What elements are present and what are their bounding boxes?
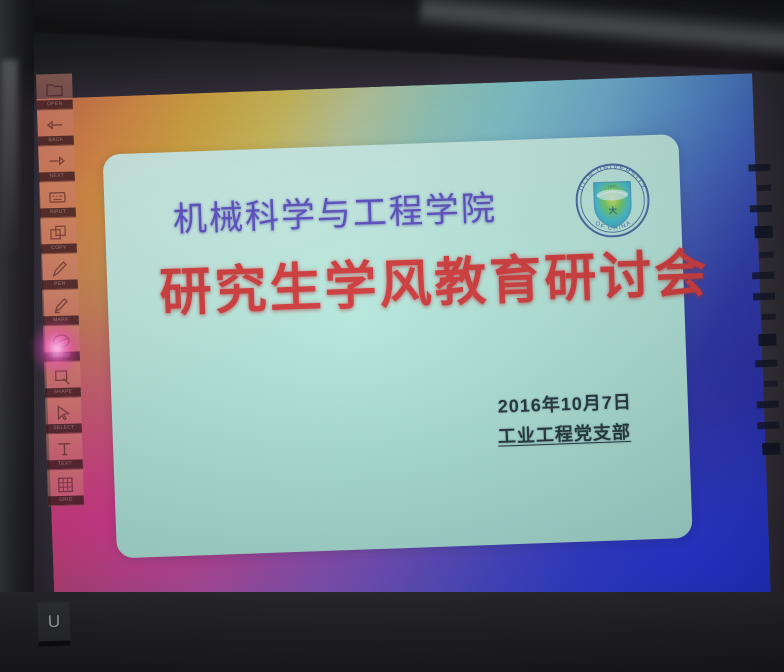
tool-button-label: SELECT (46, 423, 82, 433)
tool-button-label: COPY (41, 243, 77, 253)
edge-tick (757, 185, 771, 191)
edge-tick (753, 293, 775, 301)
tool-button-marker[interactable]: MARK (42, 289, 79, 326)
tool-button-label: GRID (48, 495, 84, 505)
edge-tick (754, 226, 772, 239)
edge-tick (750, 205, 772, 213)
tool-button-eraser[interactable]: ERASE (43, 325, 80, 362)
edge-tick (759, 252, 773, 258)
bottom-wall (0, 592, 784, 672)
edge-tick (755, 360, 777, 368)
tool-button-folder[interactable]: OPEN (36, 73, 73, 110)
tool-button-copy[interactable]: COPY (40, 217, 77, 254)
tool-button-text[interactable]: TEXT (46, 433, 83, 470)
tool-button-pen[interactable]: PEN (41, 253, 78, 290)
tool-button-arrow-right[interactable]: NEXT (38, 145, 75, 182)
edge-tick (757, 401, 779, 409)
wall-highlight (2, 60, 18, 260)
tool-button-arrow-left[interactable]: BACK (37, 109, 74, 146)
edge-tick (748, 164, 770, 172)
edge-tick (762, 443, 780, 456)
edge-tick (762, 314, 776, 320)
tool-button-grid[interactable]: GRID (47, 469, 84, 506)
tool-button-label: SHAPE (45, 387, 81, 397)
tool-button-label: OPEN (37, 99, 73, 109)
tool-button-label: TEXT (47, 459, 83, 469)
projected-slide-photo: JILIN UNIVERSITY OF CHINA 大 1946 机械科学与工程… (0, 0, 784, 672)
left-wall-edge (0, 0, 34, 672)
tool-button-shape[interactable]: SHAPE (44, 361, 81, 398)
toolbar-footer-glyph: U (37, 602, 70, 647)
tool-button-keyboard[interactable]: INPUT (39, 181, 76, 218)
tool-button-label: INPUT (40, 207, 76, 217)
projection-vignette (37, 73, 772, 638)
tool-button-label: PEN (42, 279, 78, 289)
tool-button-label: NEXT (39, 171, 75, 181)
tool-button-label: MARK (43, 315, 79, 325)
tool-button-label: ERASE (44, 351, 80, 361)
edge-tick (764, 381, 778, 387)
edge-tick (757, 422, 779, 430)
edge-tick (758, 334, 776, 347)
edge-tick (752, 272, 774, 280)
tool-button-label: BACK (38, 135, 74, 145)
projection-screen: JILIN UNIVERSITY OF CHINA 大 1946 机械科学与工程… (37, 73, 772, 638)
tool-button-select[interactable]: SELECT (45, 397, 82, 434)
